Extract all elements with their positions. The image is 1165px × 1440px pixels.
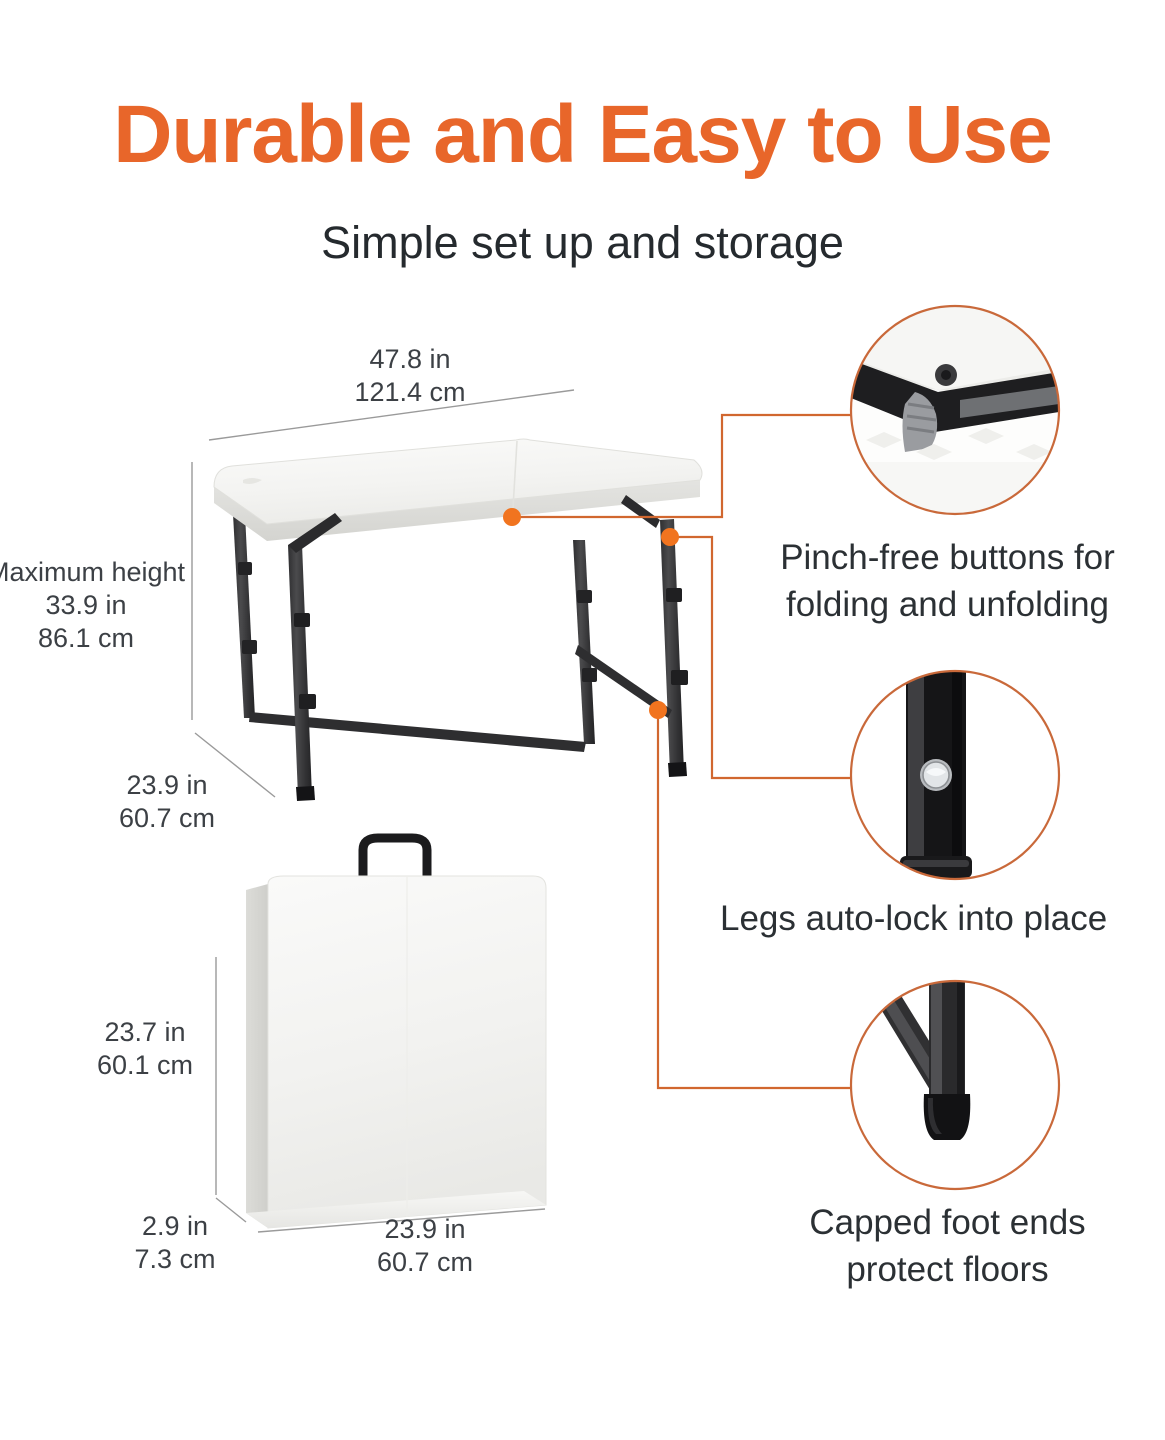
callout-pinch-free-line2: folding and unfolding [735, 582, 1160, 629]
detail-circle-auto-lock [851, 660, 1059, 879]
folded-table-thickness-inches: 2.9 in [85, 1210, 265, 1243]
callout-auto-lock-line1: Legs auto-lock into place [720, 896, 1165, 943]
tabletop [214, 439, 702, 541]
open-table-height-inches: 33.9 in [0, 589, 186, 622]
open-table-width-dimension: 47.8 in 121.4 cm [300, 343, 520, 409]
folded-table-width-dimension: 23.9 in 60.7 cm [320, 1213, 530, 1279]
callout-label-capped-foot: Capped foot ends protect floors [735, 1200, 1160, 1293]
infographic-page: Durable and Easy to Use Simple set up an… [0, 0, 1165, 1440]
open-table-width-inches: 47.8 in [300, 343, 520, 376]
open-table-illustration [214, 439, 702, 801]
open-table-width-cm: 121.4 cm [300, 376, 520, 409]
folded-table-illustration [246, 838, 546, 1228]
folded-table-height-cm: 60.1 cm [40, 1049, 250, 1082]
detail-circle-pinch-free [851, 306, 1059, 518]
table-front-legs [288, 495, 688, 801]
table-rear-legs [233, 514, 597, 752]
open-table-depth-dimension: 23.9 in 60.7 cm [62, 769, 272, 835]
callout-capped-foot-line1: Capped foot ends [735, 1200, 1160, 1247]
open-table-depth-inches: 23.9 in [62, 769, 272, 802]
callout-capped-foot-line2: protect floors [735, 1247, 1160, 1294]
carry-handle-icon [363, 838, 427, 880]
open-table-height-label: Maximum height [0, 556, 186, 589]
callout-pinch-free-line1: Pinch-free buttons for [735, 535, 1160, 582]
callout-label-pinch-free: Pinch-free buttons for folding and unfol… [735, 535, 1160, 628]
anchor-dot-auto-lock [661, 528, 679, 546]
folded-table-height-inches: 23.7 in [40, 1016, 250, 1049]
open-table-height-dimension: Maximum height 33.9 in 86.1 cm [0, 556, 186, 655]
folded-table-width-cm: 60.7 cm [320, 1246, 530, 1279]
folded-table-width-inches: 23.9 in [320, 1213, 530, 1246]
callout-label-auto-lock: Legs auto-lock into place [720, 896, 1165, 943]
anchor-dot-capped-foot [649, 701, 667, 719]
folded-table-thickness-cm: 7.3 cm [85, 1243, 265, 1276]
open-table-depth-cm: 60.7 cm [62, 802, 272, 835]
detail-circle-capped-foot [851, 960, 1059, 1189]
anchor-dot-pinch-free [503, 508, 521, 526]
folded-table-height-dimension: 23.7 in 60.1 cm [40, 1016, 250, 1082]
open-table-height-cm: 86.1 cm [0, 622, 186, 655]
folded-table-thickness-dimension: 2.9 in 7.3 cm [85, 1210, 265, 1276]
